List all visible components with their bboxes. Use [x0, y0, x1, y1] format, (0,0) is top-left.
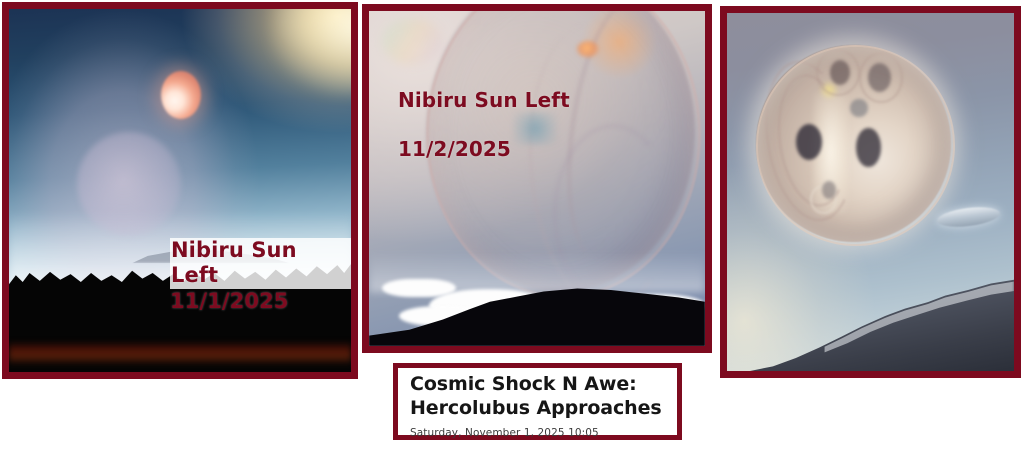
- title-card[interactable]: Cosmic Shock N Awe: Hercolubus Approache…: [393, 363, 682, 440]
- photo-caption-left: Nibiru Sun Left 11/1/2025: [170, 212, 351, 340]
- prism-flare: [382, 18, 442, 65]
- photo-caption-middle: Nibiru Sun Left 11/2/2025: [398, 64, 570, 186]
- title-headline-line2: Hercolubus Approaches: [410, 397, 677, 421]
- sphere-outer-rim: [756, 45, 955, 246]
- nibiru-orb: [161, 71, 201, 119]
- title-timestamp: Saturday, November 1, 2025 10:05: [410, 427, 677, 439]
- caption-mid-line1: Nibiru Sun Left: [398, 88, 570, 112]
- caption-left-line2: 11/1/2025: [170, 289, 289, 313]
- caption-mid-line2: 11/2/2025: [398, 137, 511, 161]
- nibiru-photo-middle[interactable]: Nibiru Sun Left 11/2/2025: [362, 4, 712, 353]
- caption-left-line1: Nibiru Sun Left: [171, 238, 297, 288]
- nibiru-photo-right[interactable]: [720, 6, 1021, 378]
- foreground-ember-strip: [9, 341, 351, 365]
- title-headline-line1: Cosmic Shock N Awe:: [410, 373, 677, 397]
- nibiru-photo-left[interactable]: Nibiru Sun Left 11/1/2025: [2, 2, 358, 379]
- screenshot-stage: Nibiru Sun Left 11/1/2025 Nibiru Sun Lef…: [0, 0, 1029, 452]
- sun-flare-icon: [269, 2, 358, 97]
